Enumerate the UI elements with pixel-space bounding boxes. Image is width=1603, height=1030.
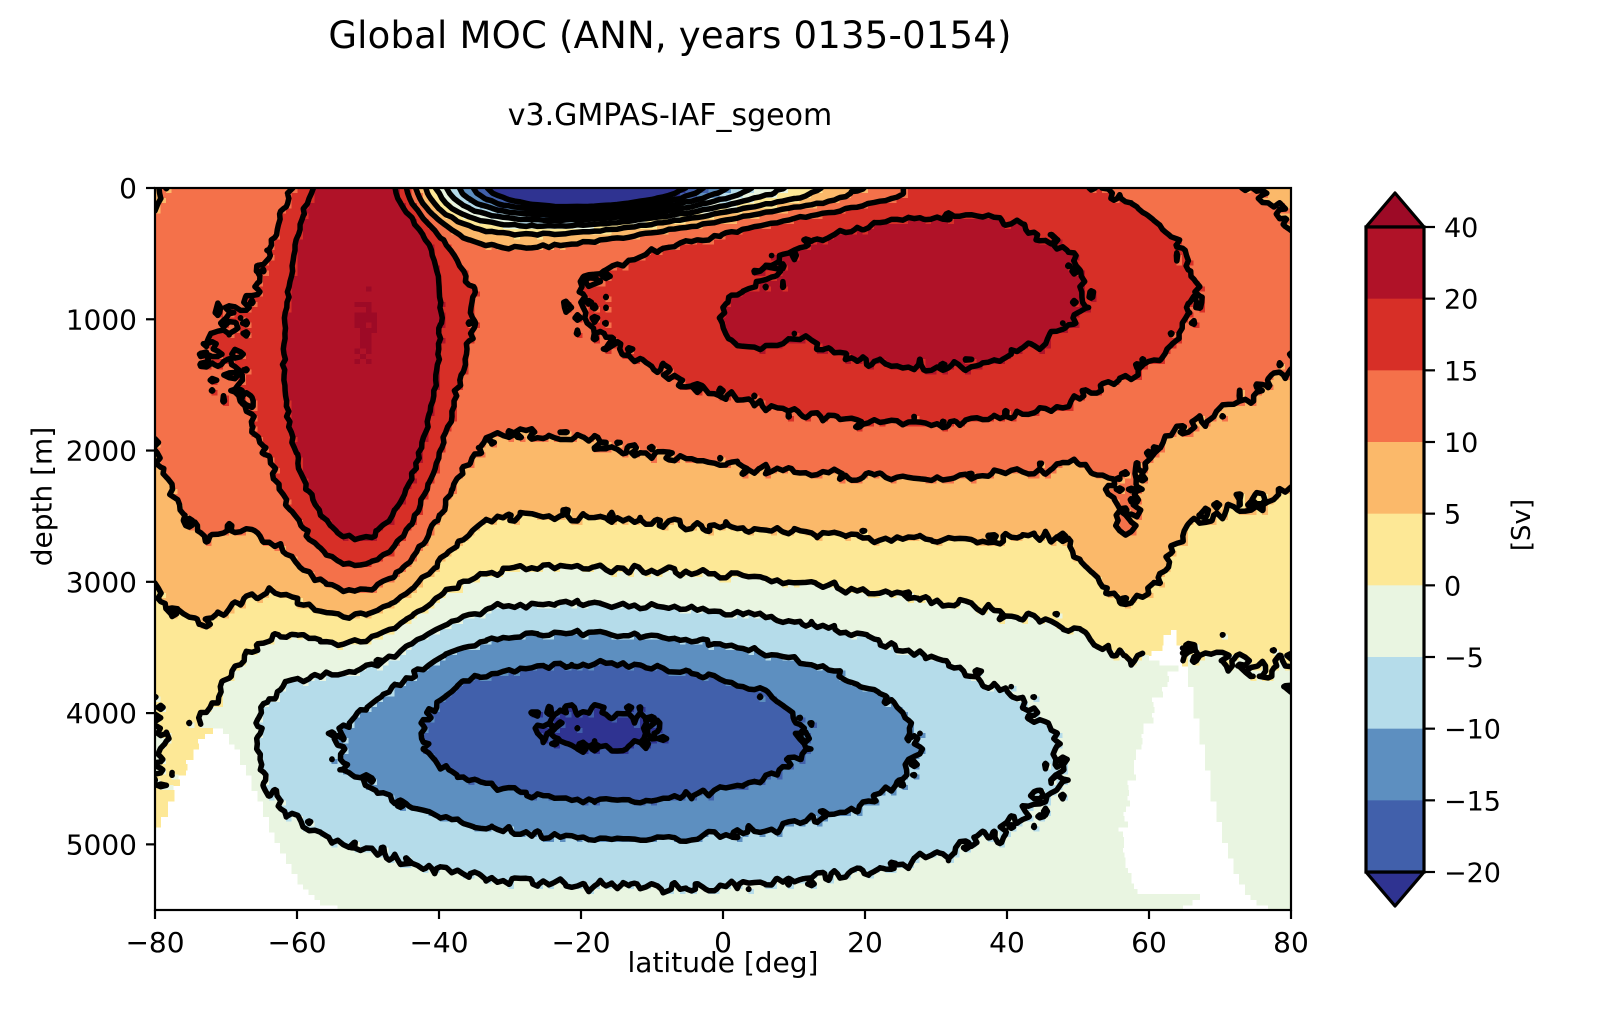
- svg-text:4000: 4000: [66, 697, 137, 730]
- svg-text:−40: −40: [409, 926, 468, 959]
- svg-text:10: 10: [1444, 428, 1478, 459]
- svg-text:−60: −60: [267, 926, 326, 959]
- svg-text:5000: 5000: [66, 828, 137, 861]
- svg-text:0: 0: [714, 926, 732, 959]
- svg-text:0: 0: [119, 172, 137, 205]
- x-axis-ticks: −80−60−40−20020406080: [125, 910, 1308, 959]
- svg-text:40: 40: [1444, 213, 1478, 244]
- svg-text:−15: −15: [1444, 786, 1501, 817]
- svg-text:15: 15: [1444, 356, 1478, 387]
- svg-text:1000: 1000: [66, 303, 137, 336]
- svg-text:40: 40: [989, 926, 1025, 959]
- colorbar-ticks: 4020151050−5−10−15−20: [1424, 213, 1501, 889]
- svg-text:20: 20: [847, 926, 883, 959]
- svg-text:−20: −20: [1444, 858, 1501, 889]
- contour-field: [155, 188, 1344, 911]
- svg-text:−20: −20: [551, 926, 610, 959]
- figure-canvas: −80−60−40−20020406080 010002000300040005…: [0, 0, 1603, 1030]
- svg-text:80: 80: [1273, 926, 1309, 959]
- svg-text:2000: 2000: [66, 435, 137, 468]
- svg-text:3000: 3000: [66, 566, 137, 599]
- moc-figure: Global MOC (ANN, years 0135-0154) v3.GMP…: [0, 0, 1603, 1030]
- svg-text:−10: −10: [1444, 715, 1501, 746]
- colorbar[interactable]: [1366, 193, 1424, 906]
- svg-text:0: 0: [1444, 571, 1461, 602]
- svg-text:60: 60: [1131, 926, 1167, 959]
- y-axis-ticks: 010002000300040005000: [66, 172, 155, 861]
- svg-text:5: 5: [1444, 500, 1461, 531]
- svg-text:−5: −5: [1444, 643, 1484, 674]
- svg-text:20: 20: [1444, 285, 1478, 316]
- svg-text:−80: −80: [125, 926, 184, 959]
